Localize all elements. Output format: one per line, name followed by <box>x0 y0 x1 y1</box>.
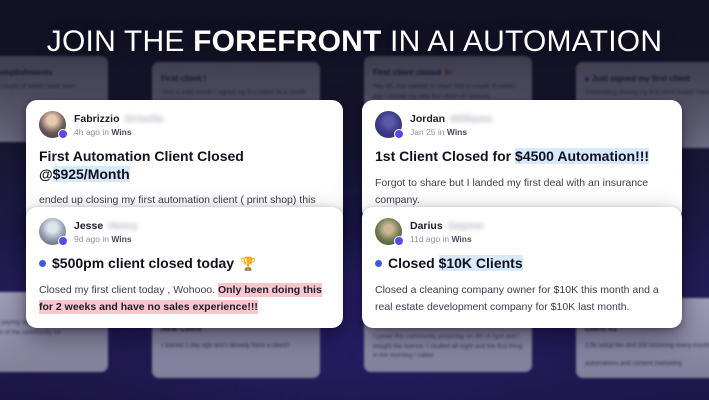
testimonial-header: JordanWilliamsJan 25 in Wins <box>375 111 669 138</box>
testimonial-card-grid: FabrizzioGrisella4h ago in WinsFirst Aut… <box>0 0 709 400</box>
testimonial-title-highlight: $925/Month <box>53 166 130 182</box>
member-badge-icon <box>394 129 404 139</box>
testimonial-author: JordanWilliamsJan 25 in Wins <box>410 113 493 137</box>
avatar[interactable] <box>39 218 66 245</box>
member-badge-icon <box>58 129 68 139</box>
testimonial-body: Forgot to share but I landed my first de… <box>375 175 669 209</box>
testimonial-body: Closed a cleaning company owner for $10K… <box>375 282 669 316</box>
author-name-line: FabrizzioGrisella <box>74 113 163 125</box>
author-last-name-blurred: Grisella <box>125 113 164 125</box>
testimonial-body-highlight: Only been doing this for 2 weeks and hav… <box>39 283 322 314</box>
testimonial-body: Closed my first client today , Wohooo. O… <box>39 282 330 316</box>
testimonial-title-text: First Automation Client Closed @$925/Mon… <box>39 148 330 183</box>
testimonial-channel: Wins <box>451 234 471 244</box>
author-first-name: Fabrizzio <box>74 113 120 125</box>
author-name-line: JordanWilliams <box>410 113 493 125</box>
member-badge-icon <box>394 236 404 246</box>
testimonial-author: JesseHenry9d ago in Wins <box>74 220 138 244</box>
status-dot-icon <box>375 260 382 267</box>
testimonial-timestamp: 9d ago in Wins <box>74 234 138 244</box>
testimonial-title-text: Closed $10K Clients <box>388 255 523 273</box>
testimonial-title: 1st Client Closed for $4500 Automation!!… <box>375 148 669 166</box>
testimonial-header: DariusGaynor11d ago in Wins <box>375 218 669 245</box>
testimonial-timestamp: 11d ago in Wins <box>410 234 484 244</box>
trophy-icon: 🏆 <box>240 256 256 272</box>
testimonial-title: Closed $10K Clients <box>375 255 669 273</box>
avatar[interactable] <box>375 111 402 138</box>
testimonial-title-text: 1st Client Closed for $4500 Automation!!… <box>375 148 649 166</box>
author-first-name: Darius <box>410 220 443 232</box>
testimonial-author: FabrizzioGrisella4h ago in Wins <box>74 113 163 137</box>
member-badge-icon <box>58 236 68 246</box>
testimonial-title-highlight: $4500 Automation!!! <box>515 148 649 164</box>
author-last-name-blurred: Gaynor <box>448 220 485 232</box>
status-dot-icon <box>39 260 46 267</box>
testimonial-channel: Wins <box>111 127 131 137</box>
testimonial-timestamp: 4h ago in Wins <box>74 127 163 137</box>
testimonial-title: First Automation Client Closed @$925/Mon… <box>39 148 330 183</box>
testimonial-card[interactable]: JordanWilliamsJan 25 in Wins1st Client C… <box>362 100 682 221</box>
author-name-line: JesseHenry <box>74 220 138 232</box>
author-first-name: Jesse <box>74 220 103 232</box>
avatar[interactable] <box>375 218 402 245</box>
testimonial-card[interactable]: DariusGaynor11d ago in WinsClosed $10K C… <box>362 207 682 328</box>
testimonial-channel: Wins <box>447 127 467 137</box>
testimonial-timestamp: Jan 25 in Wins <box>410 127 493 137</box>
testimonial-header: JesseHenry9d ago in Wins <box>39 218 330 245</box>
author-last-name-blurred: Williams <box>450 113 493 125</box>
testimonial-title: $500pm client closed today 🏆 <box>39 255 330 273</box>
testimonial-title-text: $500pm client closed today <box>52 255 234 273</box>
testimonial-card[interactable]: JesseHenry9d ago in Wins$500pm client cl… <box>26 207 343 328</box>
author-first-name: Jordan <box>410 113 445 125</box>
testimonial-header: FabrizzioGrisella4h ago in Wins <box>39 111 330 138</box>
testimonial-title-highlight: $10K Clients <box>439 255 523 271</box>
testimonial-channel: Wins <box>111 234 131 244</box>
author-last-name-blurred: Henry <box>108 220 138 232</box>
author-name-line: DariusGaynor <box>410 220 484 232</box>
avatar[interactable] <box>39 111 66 138</box>
testimonial-author: DariusGaynor11d ago in Wins <box>410 220 484 244</box>
